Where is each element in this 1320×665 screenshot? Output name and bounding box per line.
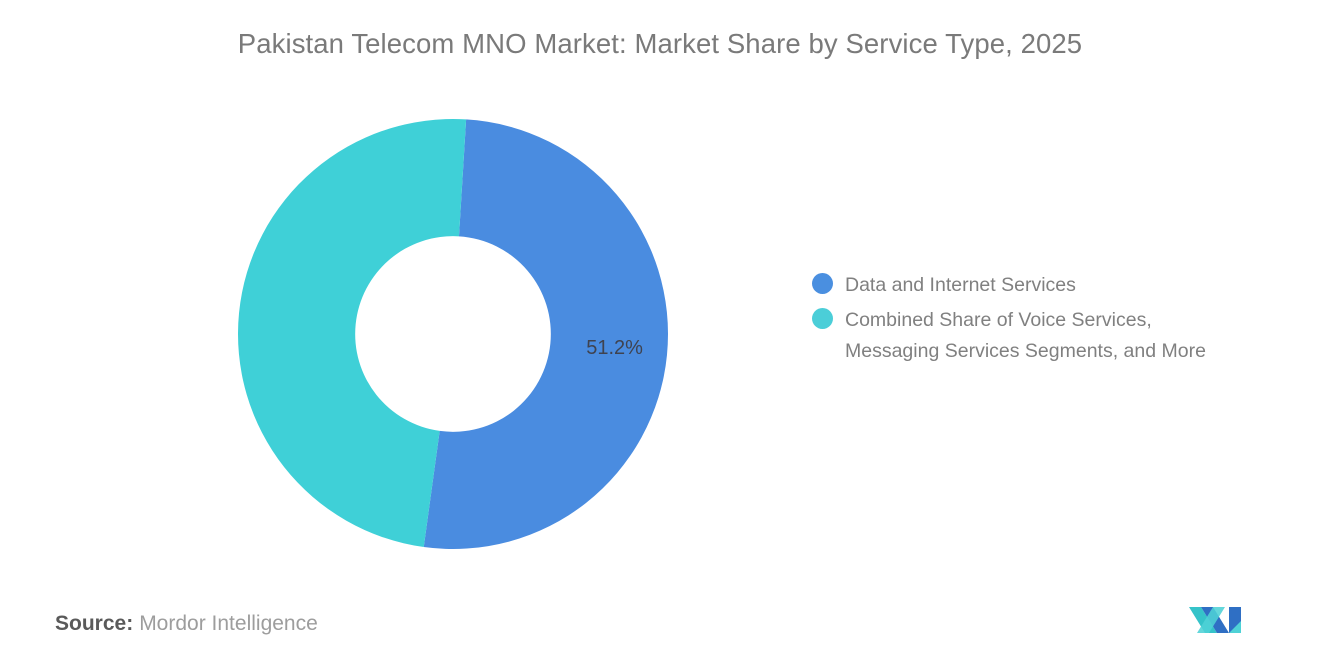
- legend-item-label: Data and Internet Services: [845, 270, 1076, 301]
- donut-chart: 51.2%: [238, 119, 668, 549]
- legend-swatch-icon: [812, 308, 833, 329]
- legend-item-combined-share-voice-messaging[interactable]: Combined Share of Voice Services, Messag…: [812, 305, 1282, 367]
- legend-item-label: Combined Share of Voice Services, Messag…: [845, 305, 1206, 367]
- source-line: Source:Mordor Intelligence: [55, 612, 318, 636]
- donut-chart-svg: [238, 119, 668, 549]
- source-label: Source:: [55, 612, 133, 635]
- legend-item-data-and-internet-services[interactable]: Data and Internet Services: [812, 270, 1282, 301]
- legend-swatch-icon: [812, 273, 833, 294]
- chart-figure: Pakistan Telecom MNO Market: Market Shar…: [0, 0, 1320, 665]
- source-value: Mordor Intelligence: [139, 612, 318, 635]
- chart-legend: Data and Internet Services Combined Shar…: [812, 270, 1282, 371]
- donut-slice[interactable]: [238, 119, 466, 547]
- donut-slice-group: [238, 119, 668, 549]
- chart-title: Pakistan Telecom MNO Market: Market Shar…: [0, 28, 1320, 60]
- mordor-intelligence-logo-icon: [1183, 599, 1251, 637]
